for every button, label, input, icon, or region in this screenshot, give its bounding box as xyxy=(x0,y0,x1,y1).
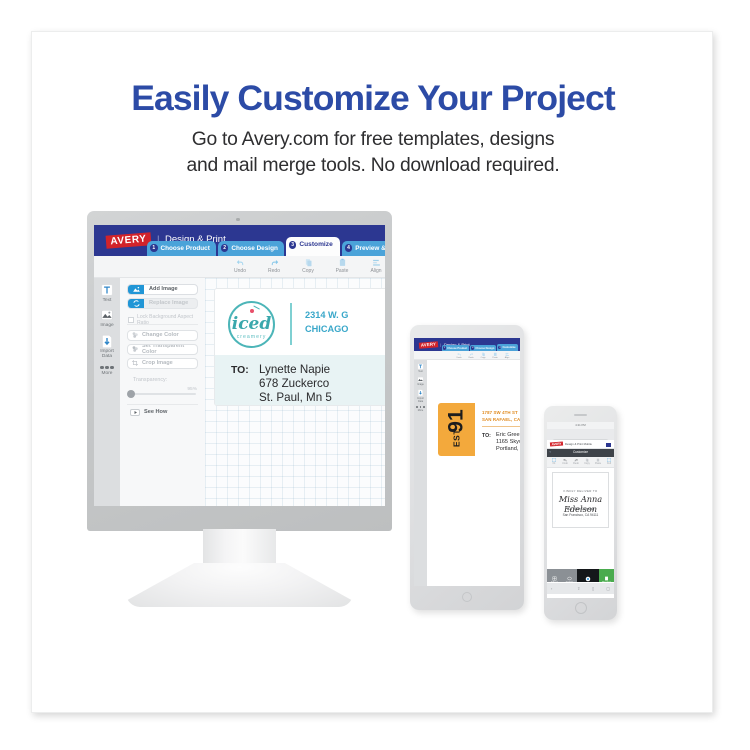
tool-label: Align xyxy=(502,357,512,359)
tool-label: Undo xyxy=(562,462,568,465)
promo-page: Easily Customize Your Project Go to Aver… xyxy=(0,0,750,750)
change-color-button[interactable]: Change Color xyxy=(127,330,198,341)
colors-tab[interactable]: Colors xyxy=(562,569,577,582)
est-badge: 91 EST xyxy=(438,403,475,456)
undo-button[interactable]: Undo xyxy=(560,458,570,465)
transparent-color-icon xyxy=(128,344,142,355)
import-data-icon xyxy=(100,334,114,349)
palette-icon xyxy=(567,576,572,581)
hamburger-menu-icon[interactable] xyxy=(606,443,611,447)
tab-number: 1 xyxy=(150,244,158,252)
tablet-toolbar: Undo Redo Copy xyxy=(414,351,520,360)
kindly-deliver-label: KINDLY DELIVER TO xyxy=(553,489,608,493)
replace-image-label: Replace Image xyxy=(144,300,188,306)
to-address-line-1: Lynette Napie xyxy=(259,363,330,376)
tab-number: 2 xyxy=(471,346,474,349)
avery-logo: AVERY xyxy=(550,441,563,446)
crop-image-button[interactable]: Crop Image xyxy=(127,358,198,369)
more-dots-icon xyxy=(414,406,427,408)
step-label: Customize xyxy=(573,450,588,454)
import-data-icon xyxy=(417,389,424,397)
redo-button[interactable]: Redo xyxy=(466,352,476,359)
redo-button[interactable]: Redo xyxy=(261,258,287,274)
replace-image-button[interactable]: Replace Image xyxy=(127,298,198,309)
text-t-icon xyxy=(417,363,424,370)
preview-icon xyxy=(604,576,609,581)
tablet-wizard-tabs: 1 Choose Product 2 Choose Design 3 Custo… xyxy=(442,344,518,351)
label-divider xyxy=(482,426,520,427)
tool-label: Copy xyxy=(295,268,321,274)
rail-item-more[interactable]: More xyxy=(414,406,427,412)
to-prefix-label: TO: xyxy=(482,433,491,439)
desktop-monitor-mockup: AVERY | Design & Print 1 Choose Product … xyxy=(87,211,392,531)
tool-label: Copy xyxy=(478,357,488,359)
tool-label: Redo xyxy=(261,268,287,274)
subtitle-line-1: Go to Avery.com for free templates, desi… xyxy=(32,127,714,153)
tool-label: Undo xyxy=(454,357,464,359)
tool-label: Undo xyxy=(227,268,253,274)
phone-toolbar: Fit Undo Redo xyxy=(547,457,614,468)
divider xyxy=(127,324,198,325)
rail-label: Image xyxy=(94,323,120,328)
image-picture-icon xyxy=(100,308,114,322)
paste-button[interactable]: Paste xyxy=(593,458,603,465)
more-dots-icon xyxy=(94,366,120,369)
rail-item-text[interactable]: Text xyxy=(414,363,427,373)
phone-label-preview[interactable]: KINDLY DELIVER TO Miss Anna Edelson 801 … xyxy=(552,472,609,528)
copy-icon xyxy=(304,258,313,267)
tab-label: Preview & Print xyxy=(355,245,385,252)
tab-label: Choose Design xyxy=(231,245,278,252)
sheet-tab[interactable]: Sheet xyxy=(547,569,562,582)
color-swatch-icon xyxy=(128,330,142,341)
page-subtitle: Go to Avery.com for free templates, desi… xyxy=(32,127,714,178)
badge-est-label: EST xyxy=(452,417,462,457)
add-image-button[interactable]: Add Image xyxy=(127,284,198,295)
page-title: Easily Customize Your Project xyxy=(32,78,714,119)
phone-speaker xyxy=(574,414,587,416)
paste-icon xyxy=(338,258,347,267)
tablet-design-canvas[interactable]: 91 EST 1787 SW 4TH ST SAN RAFAEL, CA TO:… xyxy=(427,360,520,586)
fullscreen-button[interactable]: Full xyxy=(604,458,614,465)
rail-label: More xyxy=(414,409,427,412)
tab-number: 2 xyxy=(221,244,229,252)
browser-nav-bar: ‹ ⇧ ▯ ▢ xyxy=(547,583,614,594)
play-icon xyxy=(130,409,140,417)
phone-status-bar: 4:21 PM xyxy=(547,422,614,429)
brand-separator: | xyxy=(440,342,441,347)
tablet-home-button[interactable] xyxy=(462,592,472,602)
text-t-icon xyxy=(100,283,114,297)
rail-item-image[interactable]: Image xyxy=(414,376,427,386)
tab-label: Choose Design xyxy=(475,347,494,350)
share-icon[interactable]: ⇧ xyxy=(577,586,580,591)
checkbox-box xyxy=(128,317,134,323)
tool-label: Full xyxy=(607,462,611,465)
bookmarks-icon[interactable]: ▯ xyxy=(592,586,594,591)
slider-knob[interactable] xyxy=(127,390,135,398)
grid-icon xyxy=(552,576,557,581)
tab-label: Choose Product xyxy=(447,347,467,350)
return-address-line-1: 2314 W. G xyxy=(305,310,348,320)
tabs-icon[interactable]: ▢ xyxy=(606,586,610,591)
subtitle-line-2: and mail merge tools. No download requir… xyxy=(32,153,714,179)
paste-button[interactable]: Paste xyxy=(329,258,355,274)
tool-label: Paste xyxy=(490,357,500,359)
phone-bottom-bar: Sheet Colors Make Changes xyxy=(547,569,614,582)
phone-step-bar: ‹ Customize xyxy=(547,449,614,457)
add-image-label: Add Image xyxy=(144,286,178,292)
tab-label: Customize xyxy=(299,241,332,248)
brand-title: Design & Print Mobile xyxy=(565,442,592,446)
copy-button[interactable]: Copy xyxy=(582,458,592,465)
to-prefix-label: TO: xyxy=(231,365,249,376)
logo-divider xyxy=(290,303,292,345)
make-changes-tab[interactable]: Make Changes xyxy=(577,569,599,582)
monitor-webcam xyxy=(236,218,240,222)
tool-label: Align xyxy=(363,268,385,274)
rail-label-line2: Data xyxy=(94,354,120,359)
to-address-line-2: 1165 Skywa xyxy=(496,439,520,445)
undo-arrow-icon xyxy=(236,258,245,267)
recipient-name: Miss Anna Edelson xyxy=(553,494,608,514)
tab-preview-print[interactable]: 4 Preview & Print xyxy=(342,241,385,256)
tab-choose-product[interactable]: 1 Choose Product xyxy=(147,241,216,256)
tab-number: 3 xyxy=(289,241,297,249)
align-icon xyxy=(372,258,381,267)
to-address-line-3: Portland, O xyxy=(496,446,520,452)
tab-number: 3 xyxy=(498,346,501,349)
transparency-label: Transparency: xyxy=(133,377,167,383)
crop-image-label: Crop Image xyxy=(142,360,173,366)
iced-creamery-logo: iced creamery xyxy=(228,301,275,348)
design-canvas[interactable]: iced creamery 2314 W. G CHICAGO TO: Lyne… xyxy=(205,278,385,506)
tool-label: Copy xyxy=(584,462,590,465)
set-transparent-color-label: Set Transparent Color xyxy=(142,344,197,355)
status-time: 4:21 PM xyxy=(575,423,585,427)
phone-mockup: 4:21 PM app.print.avery.com AVERY Design… xyxy=(544,406,617,620)
tool-label: Redo xyxy=(573,462,579,465)
tool-label: Paste xyxy=(595,462,601,465)
slider-track xyxy=(130,393,196,396)
align-button[interactable]: Align xyxy=(502,352,512,359)
tool-label: Paste xyxy=(329,268,355,274)
rail-label: Image xyxy=(414,383,427,386)
tablet-shipping-label-preview[interactable]: 91 EST 1787 SW 4TH ST SAN RAFAEL, CA TO:… xyxy=(438,403,520,456)
tab-number: 4 xyxy=(345,244,353,252)
tool-rail: Text Image xyxy=(94,278,120,506)
cherry-icon xyxy=(250,309,254,313)
to-address-line-3: St. Paul, Mn 5 xyxy=(259,391,332,404)
change-color-label: Change Color xyxy=(142,332,179,338)
see-how-button[interactable]: See How xyxy=(130,409,167,417)
transparency-value: 95% xyxy=(177,387,197,392)
image-picture-icon xyxy=(417,376,424,383)
copy-button[interactable]: Copy xyxy=(478,352,488,359)
to-address-line-1: Eric Greenw xyxy=(496,432,520,438)
rail-label: Text xyxy=(94,298,120,303)
tablet-tool-rail: Text Image Import xyxy=(414,360,427,586)
phone-screen: 4:21 PM app.print.avery.com AVERY Design… xyxy=(547,422,614,598)
circle-icon xyxy=(585,576,591,582)
tab-choose-design[interactable]: 2 Choose Design xyxy=(218,241,284,256)
recipient-city: San Francisco, CA 94111 xyxy=(553,513,608,517)
tab-label: Choose Product xyxy=(161,245,210,252)
avery-logo: AVERY xyxy=(419,341,438,348)
see-how-label: See How xyxy=(144,409,167,415)
rail-item-image[interactable]: Image xyxy=(94,308,120,328)
rail-label: More xyxy=(94,371,120,376)
phone-app-header: AVERY Design & Print Mobile xyxy=(547,440,614,449)
add-image-icon xyxy=(128,284,144,295)
undo-button[interactable]: Undo xyxy=(454,352,464,359)
crop-icon xyxy=(128,358,142,369)
tab-number: 1 xyxy=(443,346,446,349)
editor-toolbar: Undo Redo Copy xyxy=(94,256,385,278)
image-options-panel: Add Image Replace Image Lock Background … xyxy=(120,278,205,506)
monitor-base xyxy=(126,563,353,607)
fit-button[interactable]: Fit xyxy=(549,458,559,465)
undo-button[interactable]: Undo xyxy=(227,258,253,274)
tool-label: Redo xyxy=(466,357,476,359)
phone-home-button[interactable] xyxy=(575,602,587,614)
monitor-screen: AVERY | Design & Print 1 Choose Product … xyxy=(94,225,385,506)
logo-name: iced xyxy=(230,315,273,334)
back-chevron-icon[interactable]: ‹ xyxy=(550,449,551,457)
shipping-label-preview[interactable]: iced creamery 2314 W. G CHICAGO TO: Lyne… xyxy=(214,288,385,406)
set-transparent-color-button[interactable]: Set Transparent Color xyxy=(127,344,198,355)
to-address-line-2: 678 Zuckerco xyxy=(259,377,329,390)
align-button[interactable]: Align xyxy=(363,258,385,274)
divider xyxy=(127,404,198,405)
return-address-line-2: CHICAGO xyxy=(305,324,348,334)
logo-subtitle: creamery xyxy=(230,334,273,340)
rail-label: Text xyxy=(414,370,427,373)
transparency-slider[interactable]: 95% xyxy=(127,387,198,399)
rail-item-import-data[interactable]: Import Data xyxy=(414,389,427,403)
copy-button[interactable]: Copy xyxy=(295,258,321,274)
rail-item-import-data[interactable]: Import Data xyxy=(94,334,120,359)
avery-logo: AVERY xyxy=(106,232,152,248)
rail-item-text[interactable]: Text xyxy=(94,283,120,303)
tab-customize[interactable]: 3 Customize xyxy=(286,237,340,256)
replace-icon xyxy=(128,298,144,309)
redo-arrow-icon xyxy=(270,258,279,267)
tablet-mockup: AVERY | Design & Print 1 Choose Product … xyxy=(410,325,524,610)
cherry-stem-icon xyxy=(253,305,260,310)
return-address-line-2: SAN RAFAEL, CA xyxy=(482,417,520,422)
tab-customize[interactable]: 3 Customize xyxy=(497,344,517,351)
product-card: Easily Customize Your Project Go to Aver… xyxy=(31,31,713,713)
browser-url-bar[interactable]: app.print.avery.com xyxy=(547,429,614,440)
preview-tab[interactable]: Preview xyxy=(599,569,614,582)
tab-label: Customize xyxy=(502,346,515,349)
redo-button[interactable]: Redo xyxy=(571,458,581,465)
back-arrow-icon[interactable]: ‹ xyxy=(551,586,552,591)
tablet-screen: AVERY | Design & Print 1 Choose Product … xyxy=(414,338,520,586)
tool-label: Fit xyxy=(553,462,556,465)
paste-button[interactable]: Paste xyxy=(490,352,500,359)
rail-label-line2: Data xyxy=(414,400,427,403)
rail-item-more[interactable]: More xyxy=(94,366,120,376)
return-address-line-1: 1787 SW 4TH ST xyxy=(482,410,518,415)
wizard-tabs: 1 Choose Product 2 Choose Design 3 Custo… xyxy=(147,237,385,256)
recipient-street: 801 Miller Crossing xyxy=(553,507,608,511)
